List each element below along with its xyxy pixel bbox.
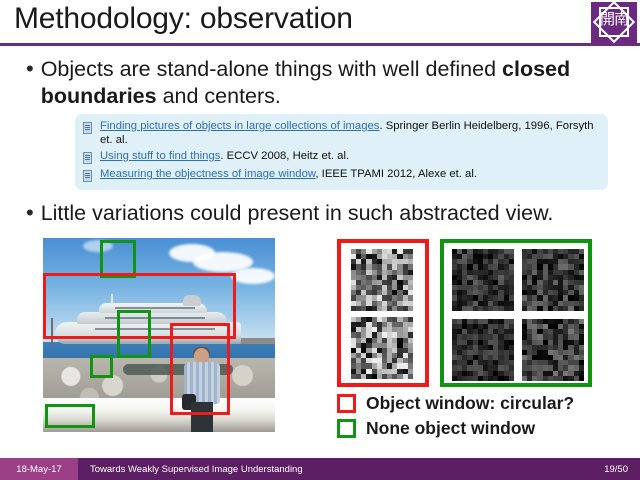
bullet-item-1: • Objects are stand-alone things with we… [26,56,626,110]
presentation-slide: Methodology: observation 開南 • Objects ar… [0,0,640,480]
legend-item-object: Object window: circular? [337,393,637,413]
annotated-photo [43,238,275,432]
legend-swatch-green-icon [337,419,356,438]
reference-item: Finding pictures of objects in large col… [83,120,600,147]
reference-link[interactable]: Finding pictures of objects in large col… [100,120,379,132]
document-icon [83,122,93,135]
photo-cloud [231,268,275,284]
reference-item: Measuring the objectness of image window… [83,168,600,183]
patch-thumbnail [351,249,413,311]
document-icon [83,152,93,165]
bullet-item-2: • Little variations could present in suc… [26,200,626,227]
legend-swatch-red-icon [337,394,356,413]
footer-title: Towards Weakly Supervised Image Understa… [90,464,604,475]
legend-item-none-object: None object window [337,418,637,438]
page-title: Methodology: observation [14,2,353,36]
annotation-green-ship-side [117,310,151,358]
patch-thumbnail [351,317,413,379]
object-patch-grid [351,249,413,379]
legend: Object window: circular? None object win… [337,393,637,443]
patch-thumbnail [522,319,584,381]
annotation-red-person [170,323,230,415]
reference-citation: . ECCV 2008, Heitz et. al. [220,150,349,162]
legend-label-object: Object window: circular? [366,393,574,413]
footer-page-number: 19/50 [604,464,628,475]
reference-citation: , IEEE TPAMI 2012, Alexe et. al. [315,168,477,180]
bullet-marker: • [26,56,34,82]
patch-thumbnail [452,249,514,311]
none-object-patch-panel [440,239,592,387]
bullet-text-1: Objects are stand-alone things with well… [41,56,626,110]
slide-footer: 18-May-17 Towards Weakly Supervised Imag… [0,458,640,480]
logo-characters: 開南 [591,11,637,28]
object-patch-panel [337,239,429,387]
title-divider [0,43,640,46]
bullet-marker: • [26,200,34,226]
annotation-green-rock [90,355,113,378]
reference-text: Measuring the objectness of image window… [100,168,477,182]
bullet-text-2: Little variations could present in such … [41,200,554,227]
patch-thumbnail [522,249,584,311]
kainan-university-logo: 開南 [591,2,637,44]
reference-text: Finding pictures of objects in large col… [100,120,600,147]
reference-text: Using stuff to find things. ECCV 2008, H… [100,150,349,164]
footer-date: 18-May-17 [0,458,78,480]
none-object-patch-grid [452,249,584,381]
legend-label-none-object: None object window [366,418,535,438]
patch-thumbnail [452,319,514,381]
reference-link[interactable]: Measuring the objectness of image window [100,168,315,180]
document-icon [83,170,93,183]
references-panel: Finding pictures of objects in large col… [75,114,608,190]
reference-link[interactable]: Using stuff to find things [100,150,220,162]
reference-item: Using stuff to find things. ECCV 2008, H… [83,150,600,165]
annotation-green-wall [45,404,95,428]
